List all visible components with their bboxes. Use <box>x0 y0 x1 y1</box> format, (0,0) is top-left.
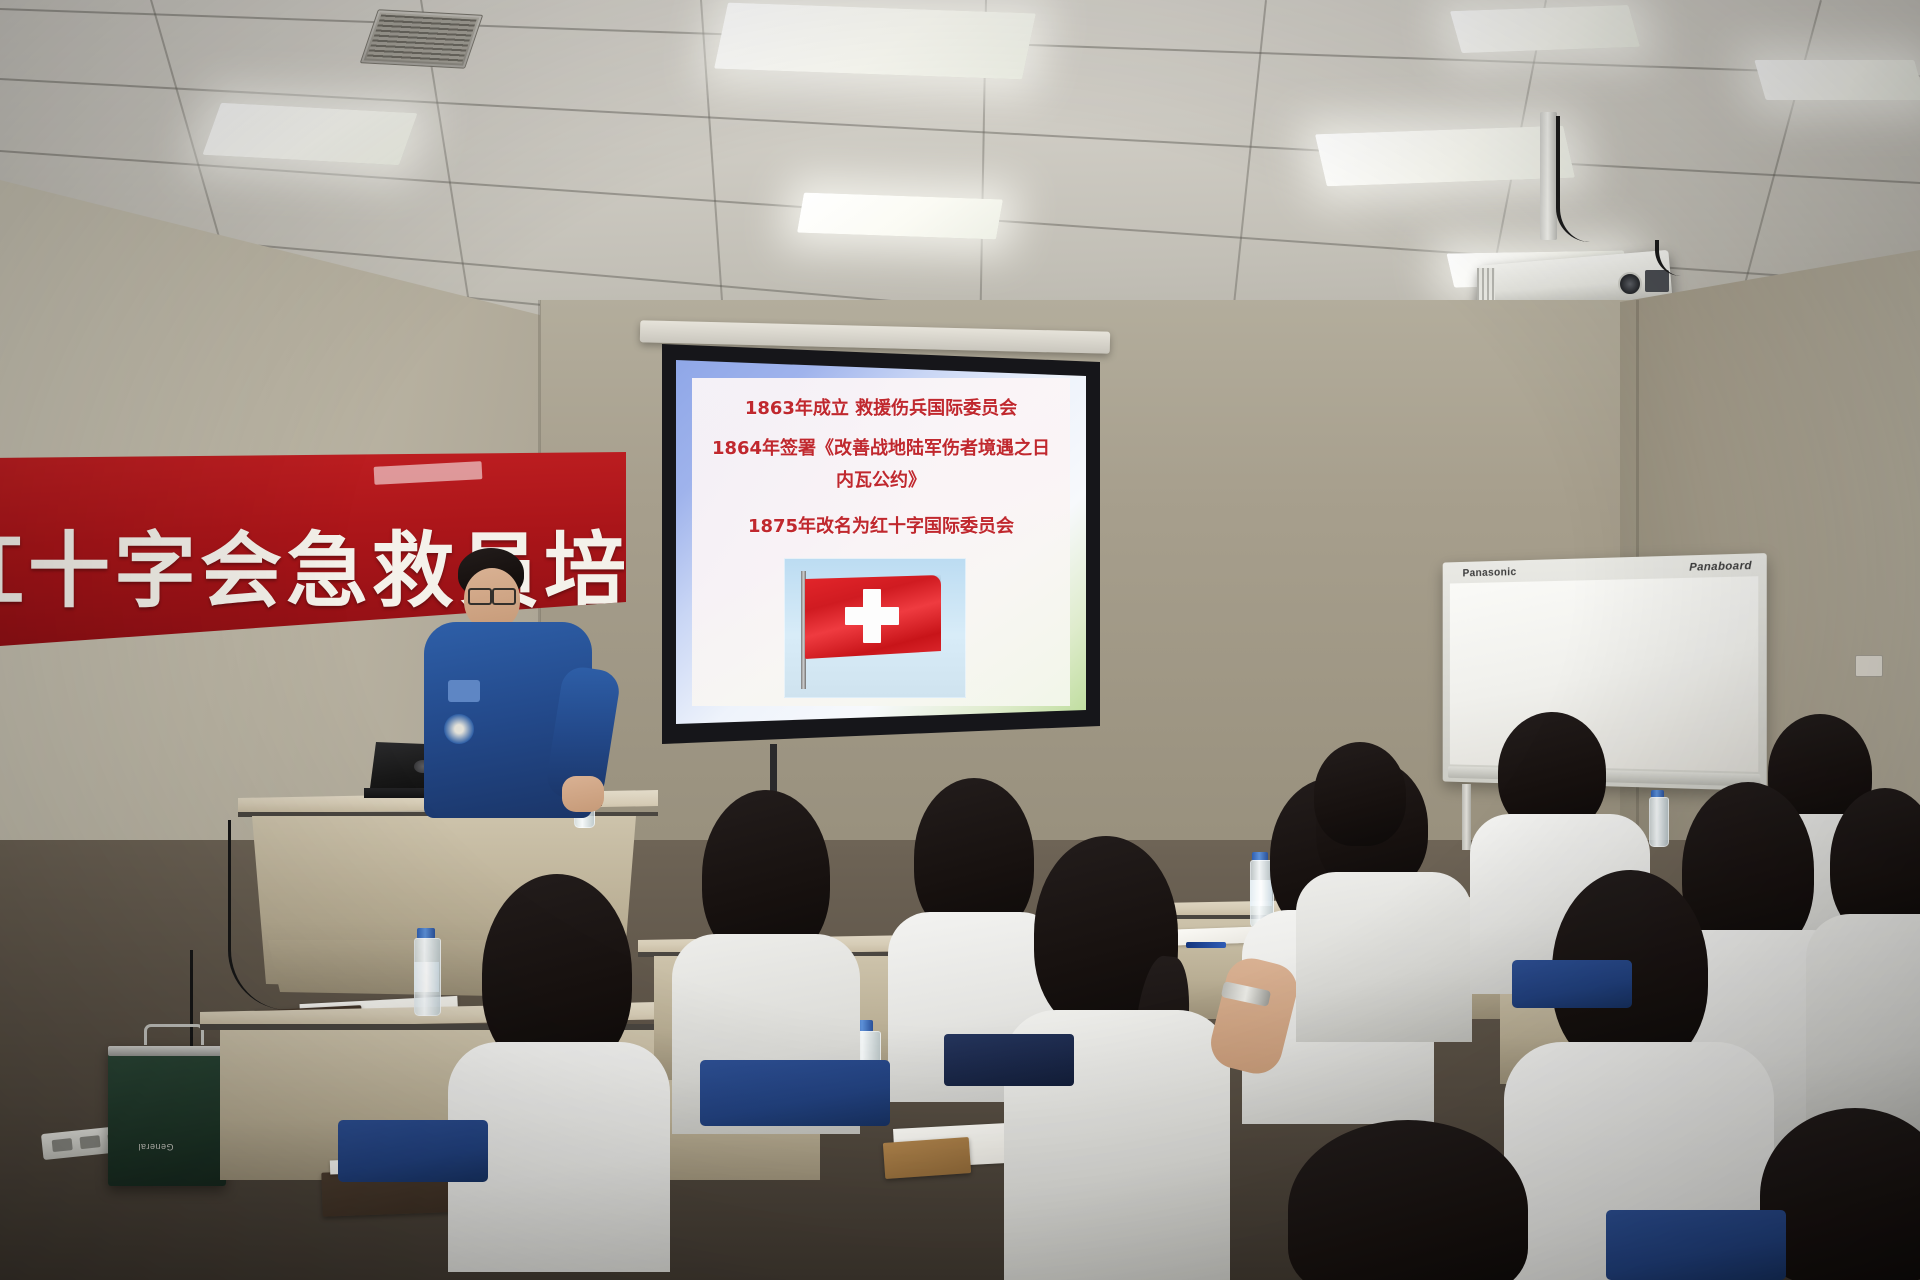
uniform-badge <box>448 680 480 702</box>
chair[interactable] <box>700 1060 890 1126</box>
ceiling-light-panel <box>714 3 1036 80</box>
glasses-icon <box>468 588 492 605</box>
chair[interactable] <box>1512 960 1632 1008</box>
whiteboard-surface[interactable] <box>1450 576 1758 772</box>
banner-text: 红十字会急救员培 <box>0 504 626 623</box>
chair[interactable] <box>338 1120 488 1182</box>
whiteboard-brand-right: Panaboard <box>1689 560 1752 574</box>
flag-cross-horizontal <box>845 607 899 625</box>
chair[interactable] <box>1606 1210 1786 1280</box>
ceiling-light-panel <box>1315 126 1575 187</box>
power-cable <box>228 820 291 1010</box>
ceiling-light-panel <box>1754 60 1920 100</box>
ceiling-light-panel <box>1450 5 1640 53</box>
slide-line-1: 1863年成立 救援伤兵国际委员会 <box>676 394 1086 420</box>
chair[interactable] <box>944 1034 1074 1086</box>
whiteboard-brand-left: Panasonic <box>1463 566 1517 579</box>
ceiling-light-panel <box>202 103 417 165</box>
glasses-icon <box>492 588 516 605</box>
air-vent <box>360 9 484 69</box>
notebook[interactable] <box>883 1137 971 1179</box>
uniform-emblem <box>444 714 474 744</box>
case-handle[interactable] <box>144 1024 204 1045</box>
instructor-hand <box>562 776 604 812</box>
banner-tape <box>374 461 483 485</box>
projection-screen-frame: 1863年成立 救援伤兵国际委员会 1864年签署《改善战地陆军伤者境遇之日 内… <box>662 344 1100 744</box>
wall-outlet[interactable] <box>1855 655 1883 677</box>
swiss-flag-image <box>784 558 966 698</box>
whiteboard-leg <box>1462 784 1471 850</box>
case-brand-label: General <box>138 1142 174 1152</box>
slide-line-3: 内瓦公约》 <box>676 466 1086 492</box>
projection-screen-slide: 1863年成立 救援伤兵国际委员会 1864年签署《改善战地陆军伤者境遇之日 内… <box>676 360 1086 724</box>
ceiling-light-panel <box>797 193 1003 240</box>
slide-line-4: 1875年改名为红十字国际委员会 <box>676 512 1086 538</box>
whiteboard[interactable]: Panasonic Panaboard <box>1443 553 1767 791</box>
classroom-photo: 红十字会急救员培 1863年成立 救援伤兵国际委员会 1864年签署《改善战地陆… <box>0 0 1920 1280</box>
pen[interactable] <box>1186 942 1226 948</box>
slide-line-2: 1864年签署《改善战地陆军伤者境遇之日 <box>676 434 1086 460</box>
